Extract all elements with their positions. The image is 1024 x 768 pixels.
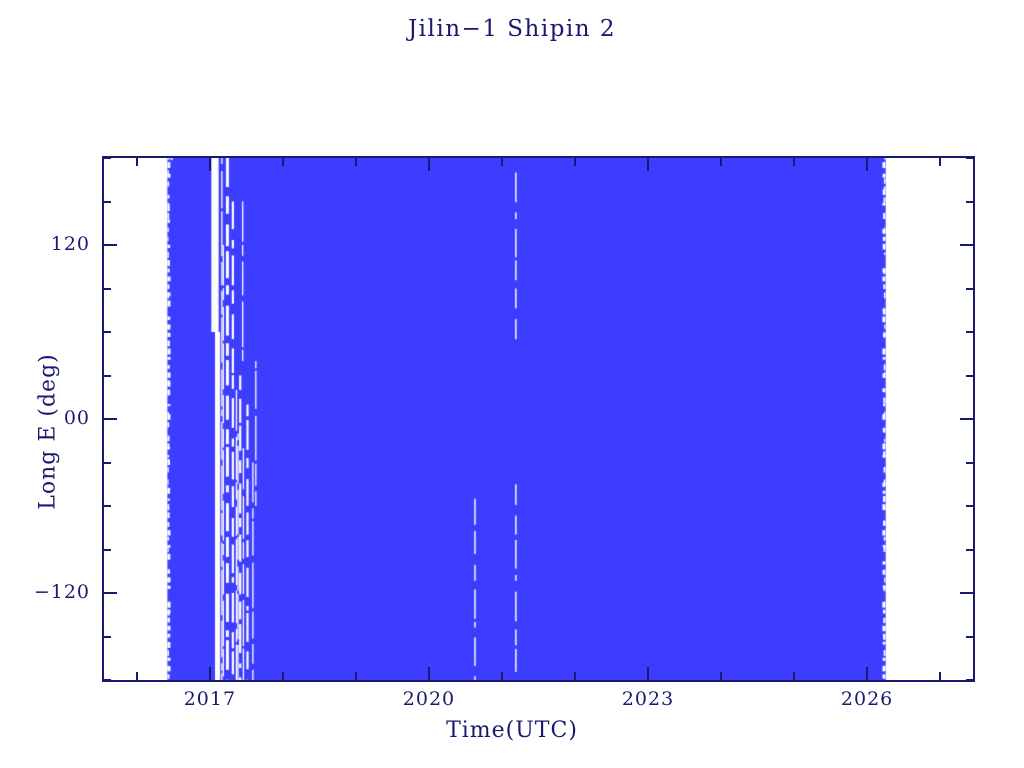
y-tick-right--120 [960,592,975,594]
x-tick-top-2020 [428,156,430,171]
x-tick-2027 [939,672,941,682]
y-tick-right--90 [966,549,975,551]
x-tick-top-2027 [939,156,941,166]
x-axis-title: Time(UTC) [0,718,1024,743]
y-tick-150 [102,201,111,203]
y-tick-right--180 [966,679,975,681]
y-tick-right-90 [966,288,975,290]
x-tick-top-2016 [136,156,138,166]
x-tick-2018 [282,672,284,682]
y-tick-right--30 [966,462,975,464]
y-tick-90 [102,288,111,290]
y-tick-180 [102,157,111,159]
x-tick-2016 [136,672,138,682]
y-tick-right-120 [960,244,975,246]
x-tick-2019 [355,672,357,682]
plot-frame [102,156,975,682]
x-tick-2022 [574,672,576,682]
y-tick--90 [102,549,111,551]
x-tick-top-2022 [574,156,576,166]
y-tick-label-1: 00 [20,407,90,429]
y-tick-30 [102,375,111,377]
x-tick-2017 [209,667,211,682]
x-tick-top-2019 [355,156,357,166]
y-tick-label-0: 120 [20,233,90,255]
y-tick--120 [102,592,117,594]
x-tick-top-2023 [647,156,649,171]
x-tick-top-2025 [793,156,795,166]
x-tick-top-2024 [720,156,722,166]
x-tick-2020 [428,667,430,682]
y-tick-right--150 [966,636,975,638]
y-axis-title: Long E (deg) [36,312,61,552]
x-tick-2021 [501,672,503,682]
x-tick-2024 [720,672,722,682]
chart-container: Jilin−1 Shipin 2 Long E (deg) Time(UTC) … [0,0,1024,768]
x-tick-2026 [866,667,868,682]
x-tick-label-1: 2020 [384,688,474,710]
y-tick-120 [102,244,117,246]
x-tick-2023 [647,667,649,682]
y-tick-right--60 [966,505,975,507]
y-tick--150 [102,636,111,638]
x-tick-top-2018 [282,156,284,166]
y-tick-0 [102,418,117,420]
x-tick-2025 [793,672,795,682]
plot-data-area [104,158,973,680]
x-tick-top-2021 [501,156,503,166]
y-tick-60 [102,331,111,333]
x-tick-label-0: 2017 [165,688,255,710]
y-tick--60 [102,505,111,507]
y-tick-right-150 [966,201,975,203]
y-tick--180 [102,679,111,681]
x-tick-label-3: 2026 [822,688,912,710]
y-tick-label-2: −120 [20,581,90,603]
y-tick-right-30 [966,375,975,377]
x-tick-top-2026 [866,156,868,171]
y-tick-right-0 [960,418,975,420]
x-tick-top-2017 [209,156,211,171]
y-tick-right-60 [966,331,975,333]
y-tick--30 [102,462,111,464]
x-tick-label-2: 2023 [603,688,693,710]
y-tick-right-180 [966,157,975,159]
chart-title: Jilin−1 Shipin 2 [0,16,1024,42]
